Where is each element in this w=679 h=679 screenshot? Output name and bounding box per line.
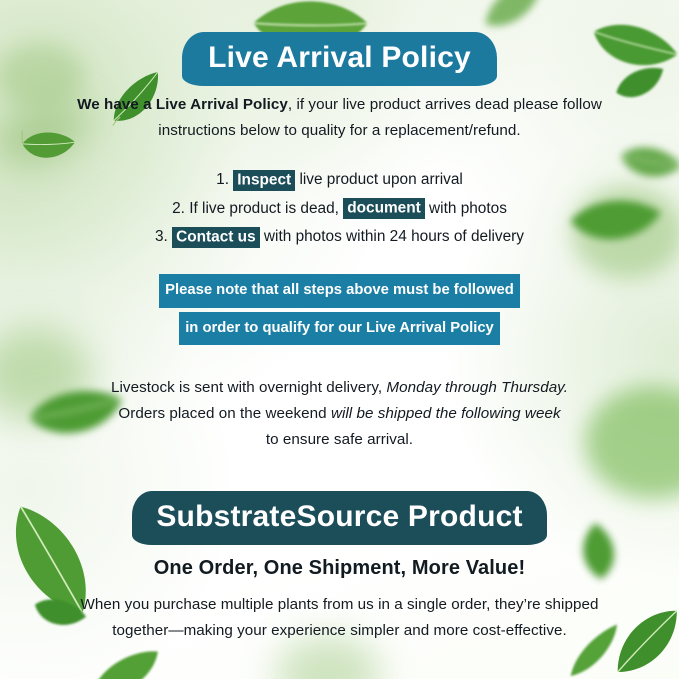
- intro-bold-lead: We have a Live Arrival Policy: [77, 96, 288, 113]
- step-3-highlight: Contact us: [172, 227, 260, 248]
- product-paragraph: When you purchase multiple plants from u…: [0, 592, 679, 644]
- policy-note-row-1: Please note that all steps above must be…: [0, 274, 679, 308]
- step-2-highlight: document: [343, 198, 425, 219]
- step-1-highlight: Inspect: [233, 170, 295, 191]
- intro-paragraph: We have a Live Arrival Policy, if your l…: [0, 92, 679, 144]
- product-body-line-1: When you purchase multiple plants from u…: [0, 592, 679, 618]
- list-item: 1. Inspect live product upon arrival: [0, 166, 679, 195]
- list-item: 3. Contact us with photos within 24 hour…: [0, 223, 679, 252]
- step-1-post: live product upon arrival: [299, 171, 462, 188]
- shipping-line-2-pre: Orders placed on the weekend: [118, 405, 326, 422]
- step-3-number: 3.: [155, 228, 168, 245]
- steps-list: 1. Inspect live product upon arrival 2. …: [0, 166, 679, 252]
- product-subhead: One Order, One Shipment, More Value!: [0, 557, 679, 580]
- product-body-line-2: together—making your experience simpler …: [0, 618, 679, 644]
- policy-note-line-2: in order to qualify for our Live Arrival…: [179, 312, 500, 346]
- step-3-post: with photos within 24 hours of delivery: [264, 228, 524, 245]
- live-arrival-policy-banner-wrap: Live Arrival Policy: [0, 32, 679, 86]
- live-arrival-policy-banner: Live Arrival Policy: [182, 32, 497, 86]
- shipping-line-1: Livestock is sent with overnight deliver…: [0, 375, 679, 401]
- step-2-pre: If live product is dead,: [189, 200, 339, 217]
- substratesource-product-banner: SubstrateSource Product: [132, 491, 546, 545]
- intro-line-1-rest: , if your live product arrives dead plea…: [288, 96, 602, 113]
- shipping-line-2-italic: will be shipped the following week: [331, 405, 561, 422]
- shipping-line-3: to ensure safe arrival.: [0, 427, 679, 453]
- substratesource-product-banner-wrap: SubstrateSource Product: [0, 491, 679, 545]
- step-1-number: 1.: [216, 171, 229, 188]
- shipping-line-1-italic: Monday through Thursday.: [386, 379, 568, 396]
- intro-line-2: instructions below to quality for a repl…: [0, 118, 679, 144]
- step-2-post: with photos: [429, 200, 507, 217]
- policy-note-row-2: in order to qualify for our Live Arrival…: [0, 312, 679, 346]
- list-item: 2. If live product is dead, document wit…: [0, 195, 679, 224]
- step-2-number: 2.: [172, 200, 185, 217]
- intro-line-1: We have a Live Arrival Policy, if your l…: [0, 92, 679, 118]
- shipping-paragraph: Livestock is sent with overnight deliver…: [0, 375, 679, 453]
- policy-note-box: Please note that all steps above must be…: [0, 274, 679, 345]
- shipping-line-1-pre: Livestock is sent with overnight deliver…: [111, 379, 382, 396]
- live-arrival-policy-page: Live Arrival Policy We have a Live Arriv…: [0, 0, 679, 679]
- shipping-line-2: Orders placed on the weekend will be shi…: [0, 401, 679, 427]
- policy-note-line-1: Please note that all steps above must be…: [159, 274, 520, 308]
